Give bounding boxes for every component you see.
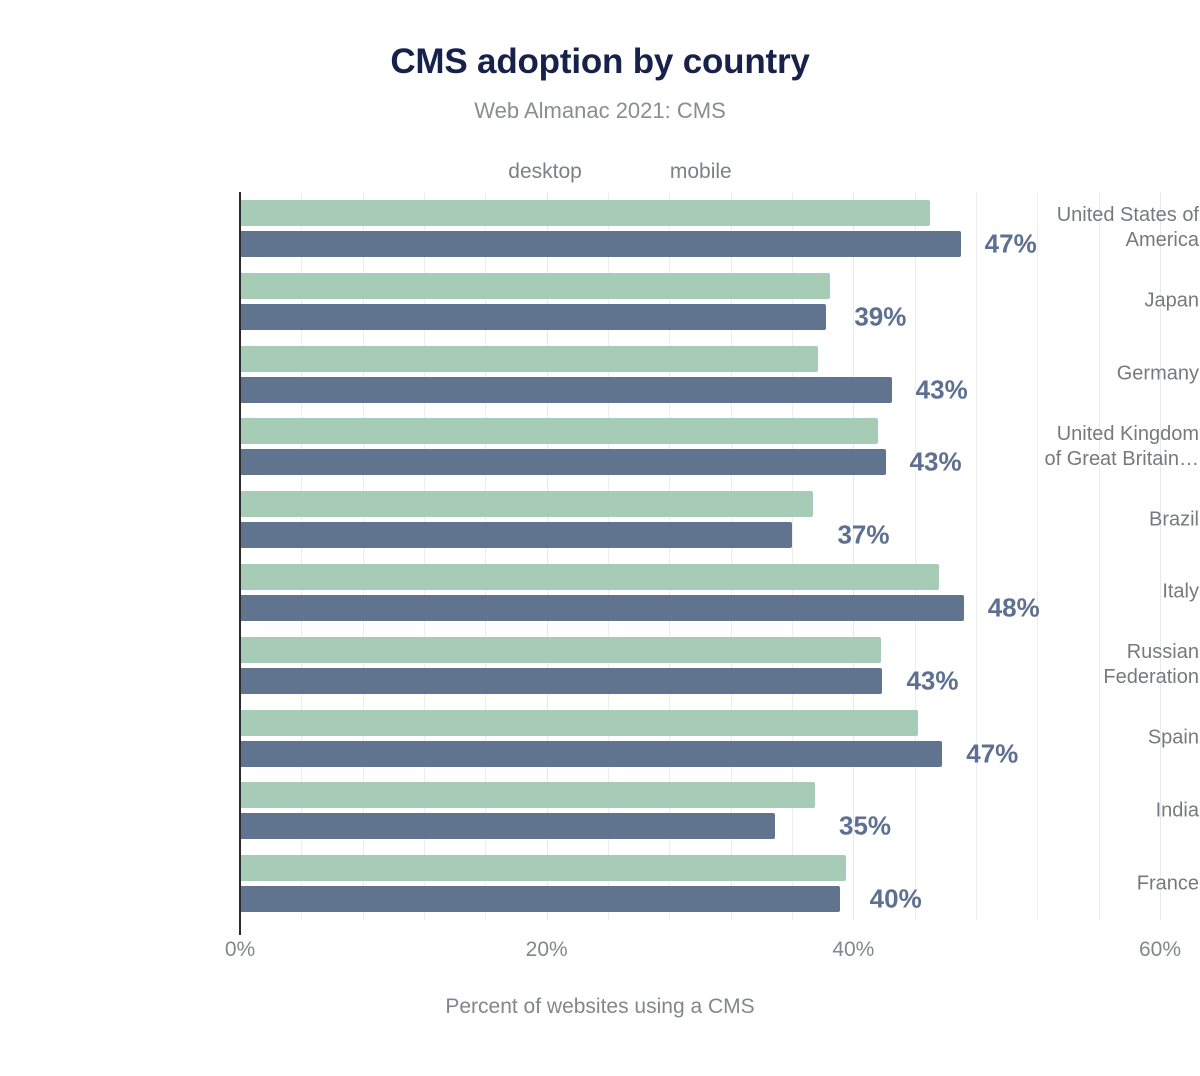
value-label: 43%: [916, 374, 968, 405]
chart-legend: desktop mobile: [0, 160, 1200, 184]
gridline: [608, 192, 609, 920]
gridline: [915, 192, 916, 920]
bar-desktop[interactable]: [240, 273, 830, 299]
category-label: Japan: [969, 289, 1199, 314]
bar-mobile[interactable]: [240, 886, 840, 912]
bar-desktop[interactable]: [240, 200, 930, 226]
legend-label-mobile: mobile: [670, 160, 732, 184]
bar-desktop[interactable]: [240, 418, 878, 444]
x-tick-label: 20%: [526, 938, 568, 962]
category-label: Germany: [969, 362, 1199, 387]
gridline: [669, 192, 670, 920]
legend-swatch-mobile-icon: [630, 162, 654, 182]
legend-item-mobile[interactable]: mobile: [630, 160, 732, 184]
gridline: [363, 192, 364, 920]
legend-label-desktop: desktop: [508, 160, 582, 184]
category-label-line: Germany: [969, 362, 1199, 387]
bar-mobile[interactable]: [240, 231, 961, 257]
bar-desktop[interactable]: [240, 710, 918, 736]
category-label-line: Federation: [969, 665, 1199, 690]
category-label-line: France: [969, 871, 1199, 896]
bar-mobile[interactable]: [240, 377, 892, 403]
gridline: [792, 192, 793, 920]
value-label: 37%: [837, 520, 889, 551]
category-label-line: Russian: [969, 640, 1199, 665]
cms-adoption-chart: CMS adoption by country Web Almanac 2021…: [0, 0, 1200, 1076]
bar-mobile[interactable]: [240, 449, 886, 475]
chart-subtitle: Web Almanac 2021: CMS: [0, 98, 1200, 124]
x-tick-label: 0%: [225, 938, 255, 962]
bar-desktop[interactable]: [240, 782, 815, 808]
gridline: [731, 192, 732, 920]
bar-desktop[interactable]: [240, 855, 846, 881]
category-label-line: of Great Britain…: [969, 447, 1199, 472]
bar-mobile[interactable]: [240, 595, 964, 621]
bar-mobile[interactable]: [240, 668, 882, 694]
category-label: Brazil: [969, 507, 1199, 532]
value-label: 48%: [988, 592, 1040, 623]
category-label: United Kingdomof Great Britain…: [969, 422, 1199, 472]
bar-desktop[interactable]: [240, 564, 939, 590]
x-axis-title: Percent of websites using a CMS: [0, 995, 1200, 1019]
value-label: 40%: [870, 884, 922, 915]
category-label-line: United States of: [969, 203, 1199, 228]
gridline: [547, 192, 548, 920]
category-label-line: United Kingdom: [969, 422, 1199, 447]
bar-desktop[interactable]: [240, 491, 813, 517]
category-label: France: [969, 871, 1199, 896]
x-tick-label: 40%: [832, 938, 874, 962]
chart-title: CMS adoption by country: [0, 42, 1200, 82]
gridline: [424, 192, 425, 920]
x-tick-label: 60%: [1139, 938, 1181, 962]
legend-swatch-desktop-icon: [468, 162, 492, 182]
legend-item-desktop[interactable]: desktop: [468, 160, 582, 184]
value-label: 43%: [910, 447, 962, 478]
bar-mobile[interactable]: [240, 522, 792, 548]
bar-mobile[interactable]: [240, 813, 775, 839]
bar-desktop[interactable]: [240, 346, 818, 372]
bar-mobile[interactable]: [240, 304, 826, 330]
category-label: India: [969, 798, 1199, 823]
gridline: [301, 192, 302, 920]
value-label: 35%: [839, 811, 891, 842]
value-label: 39%: [854, 301, 906, 332]
bar-desktop[interactable]: [240, 637, 881, 663]
x-axis-zero-tick: [239, 921, 241, 935]
category-label-line: India: [969, 798, 1199, 823]
category-label-line: Brazil: [969, 507, 1199, 532]
category-label: RussianFederation: [969, 640, 1199, 690]
value-label: 47%: [985, 228, 1037, 259]
bar-mobile[interactable]: [240, 741, 942, 767]
value-label: 47%: [966, 738, 1018, 769]
value-label: 43%: [906, 665, 958, 696]
category-label-line: Japan: [969, 289, 1199, 314]
y-axis-line: [239, 192, 241, 921]
gridline: [485, 192, 486, 920]
